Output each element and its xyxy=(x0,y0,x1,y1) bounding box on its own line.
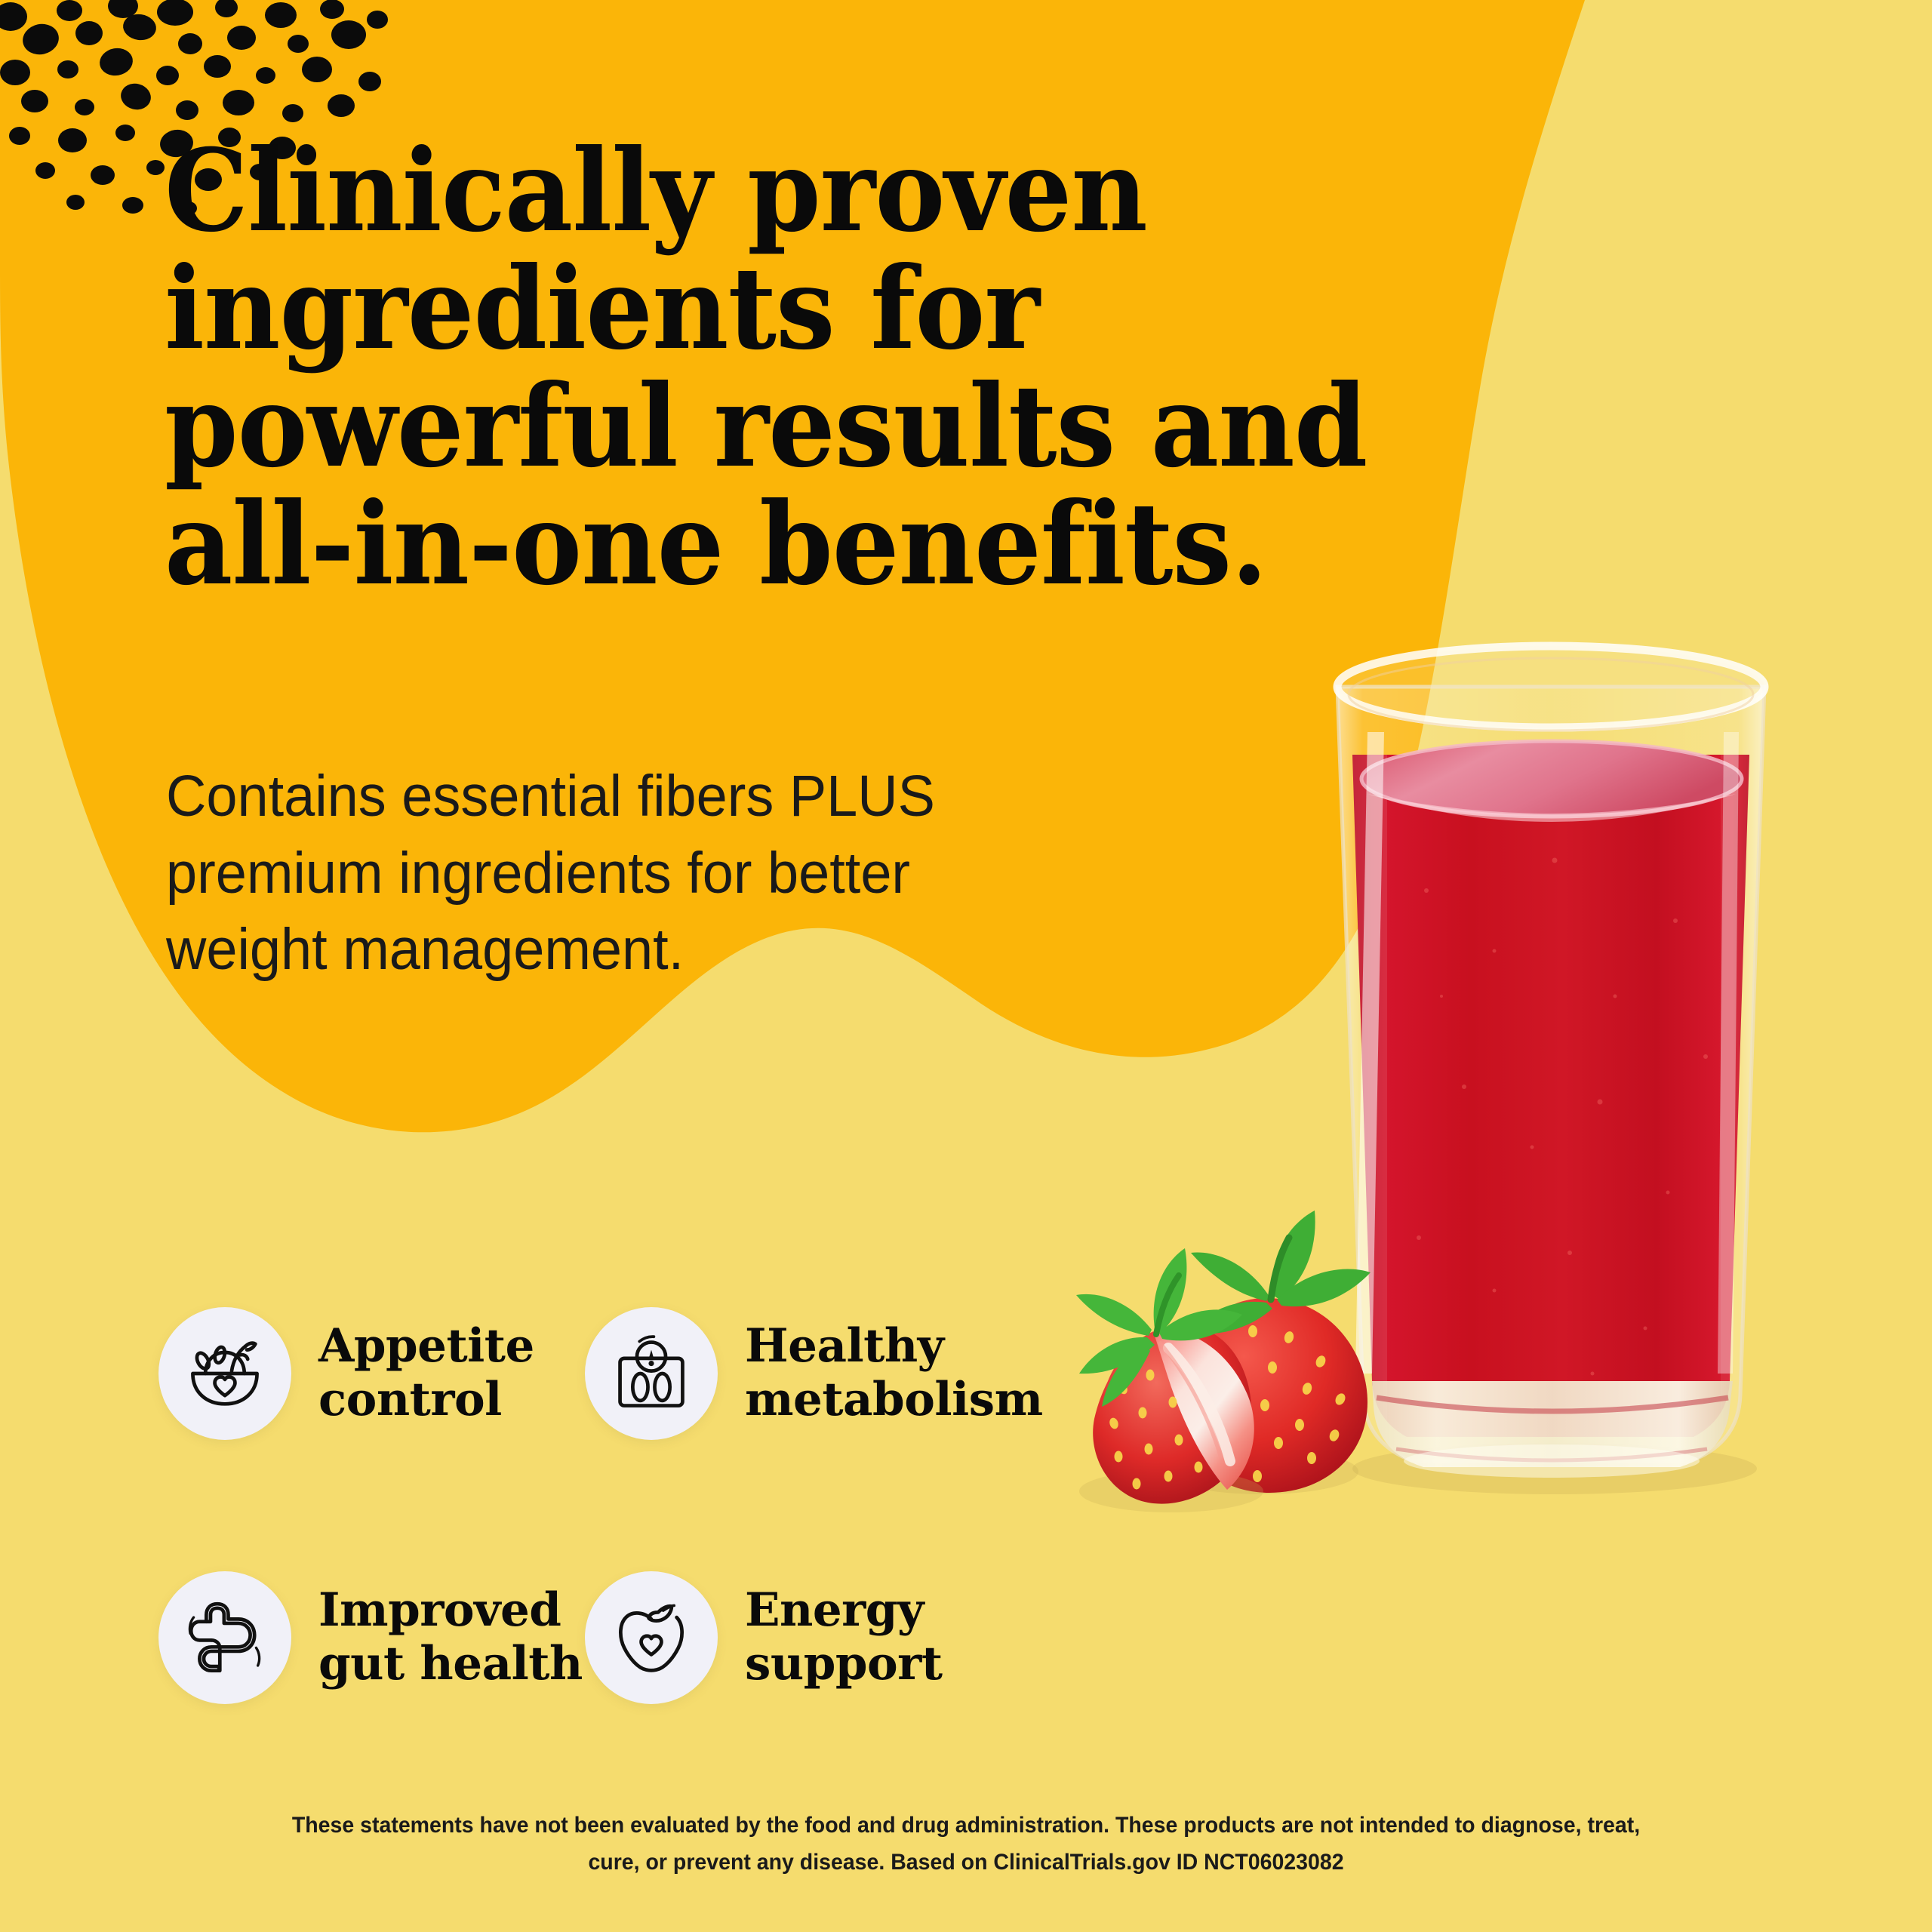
headline-line-4: all-in-one benefits. xyxy=(165,485,1302,603)
benefit-item-appetite-control: Appetite control xyxy=(158,1241,585,1506)
benefit-label-line: Improved xyxy=(318,1584,583,1638)
apple-heart-icon xyxy=(585,1571,718,1704)
poster-canvas: Clinically proven ingredients for powerf… xyxy=(0,0,1932,1932)
disclaimer: These statements have not been evaluated… xyxy=(48,1807,1884,1881)
benefits-list: Appetite control Healthy metabolism xyxy=(158,1241,1011,1770)
benefit-item-energy-support: Energy support xyxy=(585,1506,1011,1770)
benefit-label-healthy-metabolism: Healthy metabolism xyxy=(745,1320,1043,1427)
disclaimer-line-1: These statements have not been evaluated… xyxy=(48,1807,1884,1844)
subheadline-line-1: Contains essential fibers PLUS xyxy=(166,758,1108,835)
benefit-label-improved-gut-health: Improved gut health xyxy=(318,1584,583,1691)
bathroom-scale-icon xyxy=(585,1307,718,1440)
headline-line-3: powerful results and xyxy=(165,368,1302,485)
salad-bowl-heart-icon xyxy=(158,1307,291,1440)
subheadline-line-3: weight management. xyxy=(166,912,1108,989)
intestines-icon xyxy=(158,1571,291,1704)
benefit-label-line: control xyxy=(318,1374,534,1427)
benefit-label-line: Energy xyxy=(745,1584,943,1638)
headline-line-1: Clinically proven xyxy=(165,132,1302,250)
headline-line-2: ingredients for xyxy=(165,250,1302,368)
benefit-label-appetite-control: Appetite control xyxy=(318,1320,534,1427)
benefit-label-energy-support: Energy support xyxy=(745,1584,943,1691)
disclaimer-line-2: cure, or prevent any disease. Based on C… xyxy=(48,1844,1884,1881)
benefit-item-improved-gut-health: Improved gut health xyxy=(158,1506,585,1770)
benefit-label-line: Appetite xyxy=(318,1320,534,1374)
benefit-label-line: metabolism xyxy=(745,1374,1043,1427)
product-image xyxy=(1072,574,1932,1796)
glass-of-juice-illustration xyxy=(1072,574,1932,1796)
benefit-label-line: support xyxy=(745,1638,943,1691)
subheadline-line-2: premium ingredients for better xyxy=(166,835,1108,912)
subheadline: Contains essential fibers PLUS premium i… xyxy=(166,758,1108,989)
juice-fill xyxy=(1343,755,1766,1449)
headline: Clinically proven ingredients for powerf… xyxy=(165,132,1302,603)
benefit-label-line: gut health xyxy=(318,1638,583,1691)
benefit-item-healthy-metabolism: Healthy metabolism xyxy=(585,1241,1011,1506)
benefit-label-line: Healthy xyxy=(745,1320,1043,1374)
